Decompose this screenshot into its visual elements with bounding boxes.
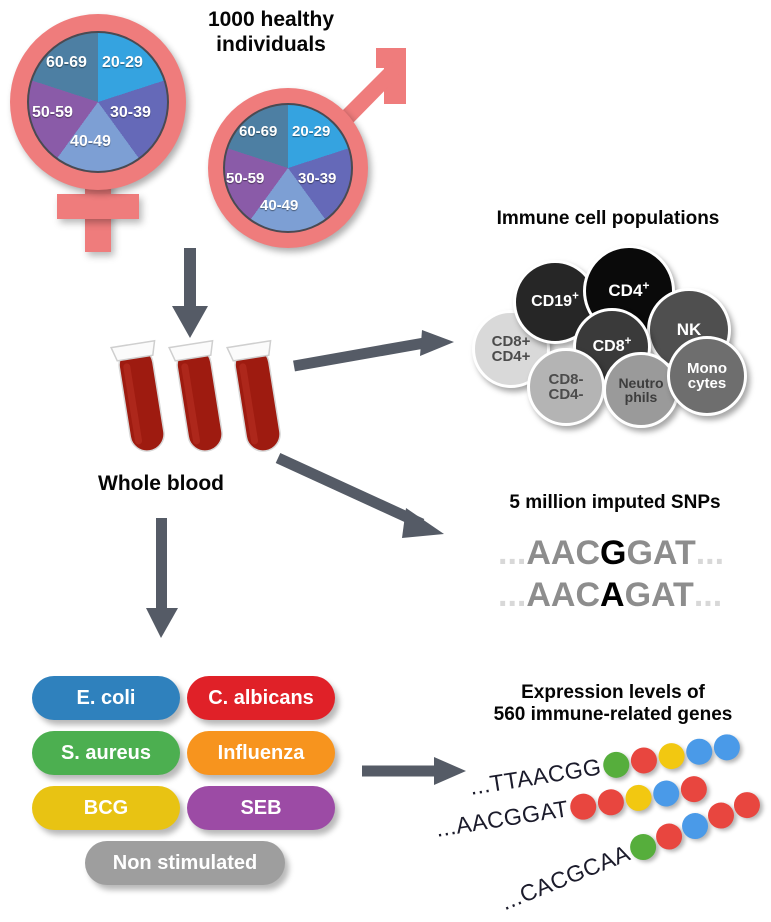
snp-tail: ... bbox=[694, 576, 722, 615]
gene-dot bbox=[568, 791, 598, 821]
immune-section-title: Immune cell populations bbox=[458, 208, 758, 230]
cell-sup-plus: + bbox=[572, 291, 579, 303]
cell-label-line2: CD4- bbox=[548, 386, 583, 403]
pie-label-40-49: 40-49 bbox=[260, 197, 298, 214]
snp-highlight-base: A bbox=[600, 576, 625, 615]
cell-sup-plus: + bbox=[625, 336, 632, 348]
stimulus-c-albicans[interactable]: C. albicans bbox=[187, 676, 335, 720]
cell-neutrophils: Neutro phils bbox=[603, 352, 679, 428]
pie-label-50-59: 50-59 bbox=[226, 170, 264, 187]
gene-dot bbox=[656, 741, 686, 771]
blood-tube-group bbox=[104, 336, 294, 466]
stimulus-s-aureus[interactable]: S. aureus bbox=[32, 731, 180, 775]
arrow-blood-to-immune bbox=[290, 328, 458, 376]
figure-canvas: 1000 healthy individuals 60-69 20-29 30-… bbox=[0, 0, 771, 922]
pie-label-40-49: 40-49 bbox=[70, 133, 111, 151]
cell-label-line2: CD4+ bbox=[492, 348, 531, 365]
gene-dot bbox=[684, 736, 714, 766]
snp-bases: AAC bbox=[526, 576, 600, 615]
gene-dot bbox=[679, 774, 709, 804]
snp-sequence-row-2: ...AACAGAT... bbox=[498, 576, 722, 615]
stimulus-influenza[interactable]: Influenza bbox=[187, 731, 335, 775]
gene-dot bbox=[629, 745, 659, 775]
cohort-title-line1: 1000 healthy bbox=[176, 8, 366, 33]
pie-label-60-69: 60-69 bbox=[239, 123, 277, 140]
stimulus-label: S. aureus bbox=[61, 742, 151, 765]
snp-prefix: ... bbox=[498, 534, 526, 573]
stimulus-non-stimulated[interactable]: Non stimulated bbox=[85, 841, 285, 885]
expression-section-title: Expression levels of 560 immune-related … bbox=[458, 682, 768, 727]
pie-label-50-59: 50-59 bbox=[32, 104, 73, 122]
strand-sequence: ...CACGCAA bbox=[497, 840, 634, 916]
arrow-blood-to-snps bbox=[274, 450, 454, 550]
stimulus-label: C. albicans bbox=[208, 687, 314, 710]
stimulus-label: E. coli bbox=[77, 687, 136, 710]
pie-label-30-39: 30-39 bbox=[110, 104, 151, 122]
gene-dot bbox=[624, 783, 654, 813]
pie-label-30-39: 30-39 bbox=[298, 170, 336, 187]
arrow-blood-to-stimuli bbox=[132, 518, 192, 640]
stimulus-label: Non stimulated bbox=[113, 852, 257, 875]
stimulus-label: SEB bbox=[240, 797, 281, 820]
immune-cell-cluster: CD8+ CD4+ CD19+ CD4+ NK CD8+ CD8- CD4- bbox=[455, 240, 771, 420]
cell-label-cd8: CD8 bbox=[593, 338, 625, 355]
snp-suffix-bases: GAT bbox=[625, 576, 694, 615]
cell-sup-plus: + bbox=[642, 279, 649, 293]
strand-sequence: ...AACGGAT bbox=[434, 795, 571, 843]
stimulus-e-coli[interactable]: E. coli bbox=[32, 676, 180, 720]
gene-dot bbox=[651, 778, 681, 808]
snp-bases: AAC bbox=[526, 534, 600, 573]
stimulus-label: BCG bbox=[84, 797, 128, 820]
stimuli-panel: E. coli C. albicans S. aureus Influenza … bbox=[32, 676, 352, 898]
blood-tube bbox=[111, 341, 171, 455]
gene-dot bbox=[596, 787, 626, 817]
whole-blood-label: Whole blood bbox=[86, 472, 236, 497]
gene-dot bbox=[730, 788, 764, 822]
expression-title-line1: Expression levels of bbox=[458, 682, 768, 704]
cell-monocytes: Mono cytes bbox=[667, 336, 747, 416]
pie-label-20-29: 20-29 bbox=[102, 54, 143, 72]
female-age-pie bbox=[27, 31, 169, 173]
snp-suffix-bases: GAT bbox=[626, 534, 695, 573]
blood-tube bbox=[169, 341, 229, 455]
gene-dot bbox=[712, 732, 742, 762]
expression-strands: ...TTAACGG ...AACGGAT ...CACGCAA bbox=[440, 740, 771, 920]
snp-section-title: 5 million imputed SNPs bbox=[470, 492, 760, 514]
snp-highlight-base: G bbox=[600, 534, 626, 573]
cell-label-cd4: CD4 bbox=[608, 281, 642, 300]
gene-dot bbox=[601, 750, 631, 780]
gene-dot bbox=[678, 809, 712, 843]
expression-title-line2: 560 immune-related genes bbox=[458, 704, 768, 726]
snp-sequence-row-1: ...AACGGAT... bbox=[498, 534, 724, 573]
stimulus-label: Influenza bbox=[218, 742, 305, 765]
snp-tail: ... bbox=[696, 534, 724, 573]
pie-label-60-69: 60-69 bbox=[46, 54, 87, 72]
cell-cd8neg-cd4neg: CD8- CD4- bbox=[527, 348, 605, 426]
stimulus-bcg[interactable]: BCG bbox=[32, 786, 180, 830]
blood-tube bbox=[227, 341, 287, 455]
pie-label-20-29: 20-29 bbox=[292, 123, 330, 140]
cell-label-line2: phils bbox=[625, 389, 658, 405]
snp-prefix: ... bbox=[498, 576, 526, 615]
female-stem-cross bbox=[57, 194, 139, 219]
whole-blood-tubes bbox=[104, 336, 294, 471]
cell-label-cd19: CD19 bbox=[531, 293, 572, 310]
stimulus-seb[interactable]: SEB bbox=[187, 786, 335, 830]
cell-label-line2: cytes bbox=[688, 375, 726, 392]
gene-dot bbox=[652, 819, 686, 853]
arrow-cohort-to-blood bbox=[160, 248, 220, 340]
gene-dot bbox=[704, 798, 738, 832]
